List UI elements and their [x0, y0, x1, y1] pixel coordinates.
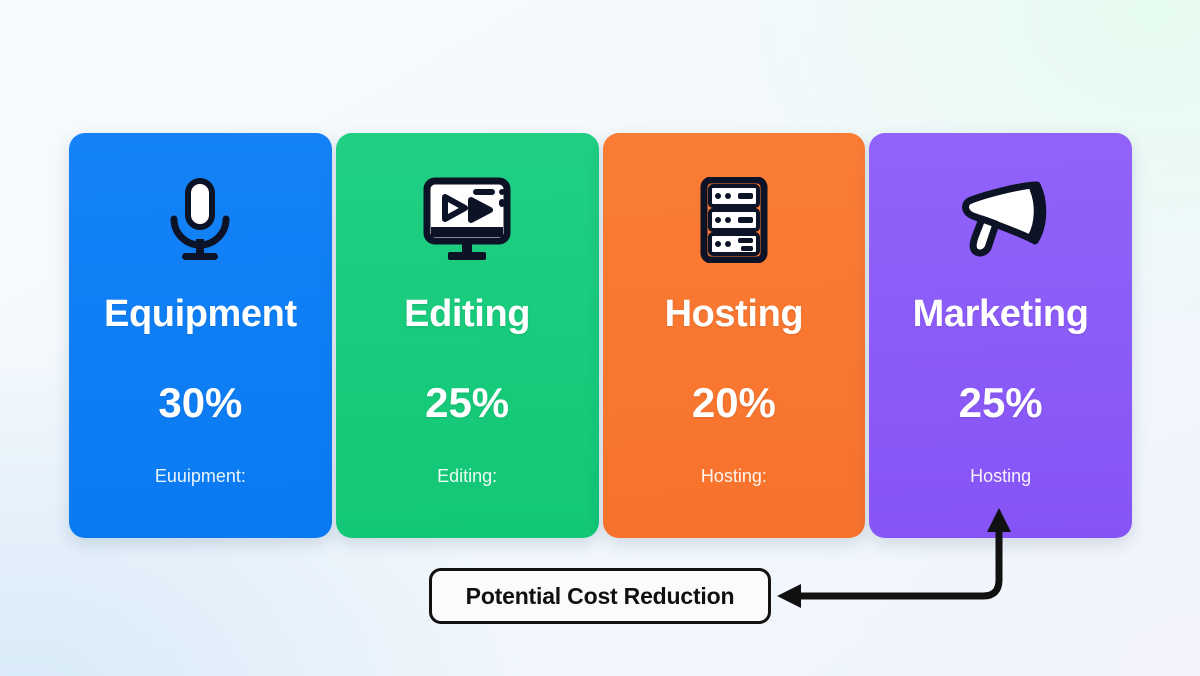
card-percent: 30%: [158, 382, 242, 424]
card-percent: 25%: [959, 382, 1043, 424]
card-percent: 25%: [425, 382, 509, 424]
card-hosting[interactable]: Hosting 20% Hosting:: [603, 133, 866, 538]
card-title: Equipment: [104, 295, 297, 333]
megaphone-icon: [951, 177, 1051, 263]
card-title: Hosting: [665, 295, 804, 333]
card-caption: Hosting: [970, 467, 1031, 485]
card-marketing[interactable]: Marketing 25% Hosting: [869, 133, 1132, 538]
card-title: Editing: [404, 295, 530, 333]
callout-label: Potential Cost Reduction: [466, 583, 735, 610]
potential-cost-reduction-callout[interactable]: Potential Cost Reduction: [429, 568, 771, 624]
cost-breakdown-card-row: Equipment 30% Euuipment: Editing: [69, 133, 1132, 538]
card-equipment[interactable]: Equipment 30% Euuipment:: [69, 133, 332, 538]
card-caption: Euuipment:: [155, 467, 246, 485]
server-rack-icon: [698, 177, 770, 263]
card-editing[interactable]: Editing 25% Editing:: [336, 133, 599, 538]
card-caption: Hosting:: [701, 467, 767, 485]
card-caption: Editing:: [437, 467, 497, 485]
card-percent: 20%: [692, 382, 776, 424]
microphone-icon: [160, 177, 240, 263]
diagram-canvas: Equipment 30% Euuipment: Editing: [0, 0, 1200, 676]
card-title: Marketing: [913, 295, 1089, 333]
video-editing-monitor-icon: [420, 177, 514, 263]
